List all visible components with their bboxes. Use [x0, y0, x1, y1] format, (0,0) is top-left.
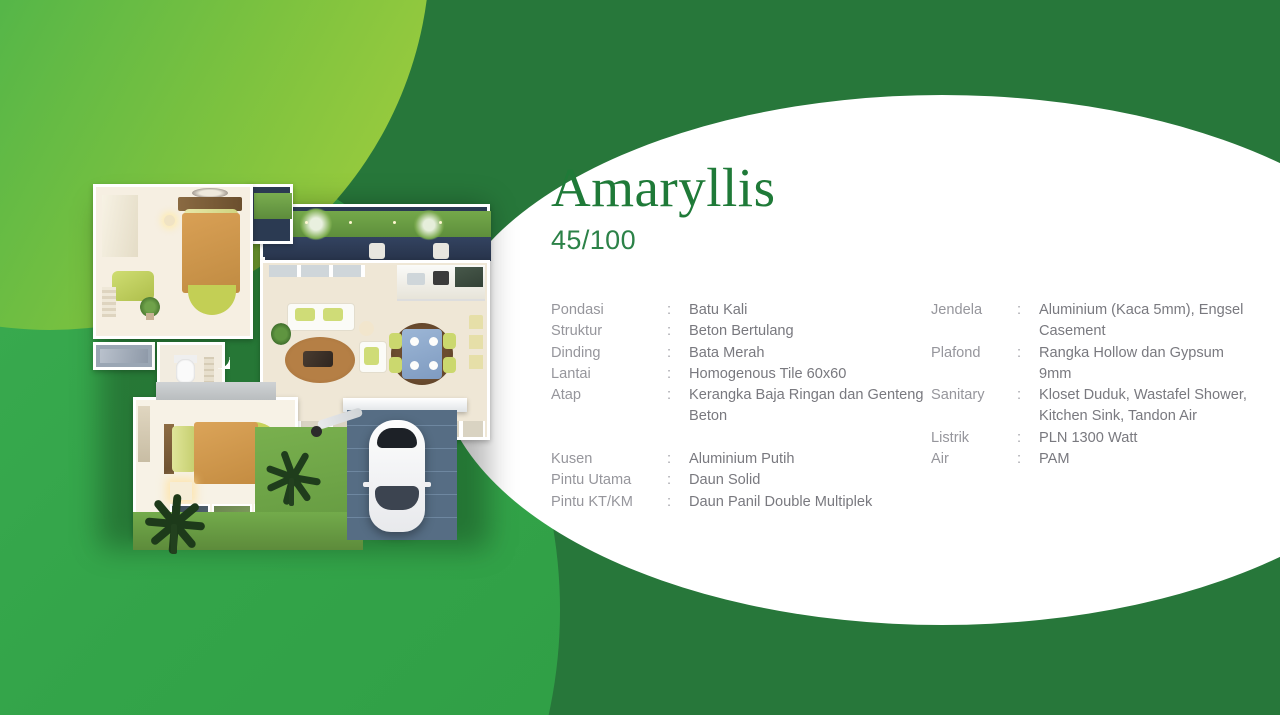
- kitchen-sink-icon: [407, 273, 425, 285]
- area-carport: [347, 410, 457, 540]
- dining-table: [402, 329, 442, 379]
- toilet-icon: [176, 359, 195, 383]
- floor-mat: [102, 287, 116, 317]
- closet-interior: [100, 349, 148, 363]
- spec-value: Homogenous Tile 60x60: [689, 364, 931, 385]
- spec-label: Pintu Utama: [551, 470, 667, 491]
- spec-label: Dinding: [551, 343, 667, 364]
- plant-icon: [271, 323, 291, 345]
- garden-light-dot: [439, 221, 442, 224]
- spec-row: Lantai:Homogenous Tile 60x60: [551, 364, 931, 385]
- armchair-cushion: [364, 347, 379, 365]
- side-garden-grass: [254, 193, 292, 219]
- garden-chair: [433, 243, 449, 259]
- house-size-label: 45/100: [551, 225, 1251, 256]
- spec-value: Daun Solid: [689, 470, 931, 491]
- room-side-garden: [247, 184, 293, 244]
- spec-label: Listrik: [931, 428, 1017, 449]
- dining-plate-icon: [410, 337, 419, 346]
- spec-value: Aluminium (Kaca 5mm), Engsel Casement: [1039, 300, 1251, 343]
- spec-label: Struktur: [551, 321, 667, 342]
- specifications-table: Pondasi:Batu KaliStruktur:Beton Bertulan…: [551, 300, 1251, 513]
- spec-column-left: Pondasi:Batu KaliStruktur:Beton Bertulan…: [551, 300, 931, 513]
- spec-row: Pondasi:Batu Kali: [551, 300, 931, 321]
- bed-pillows: [172, 426, 196, 472]
- spec-value: Rangka Hollow dan Gypsum 9mm: [1039, 343, 1251, 386]
- spec-value: Beton Bertulang: [689, 321, 931, 342]
- spec-colon: :: [667, 470, 689, 491]
- bathroom-door-swing: [218, 357, 230, 369]
- coffee-table: [303, 351, 333, 367]
- spec-label: Jendela: [931, 300, 1017, 321]
- side-table: [359, 321, 374, 336]
- dining-plate-icon: [410, 361, 419, 370]
- spec-value: Aluminium Putih: [689, 449, 931, 470]
- spec-colon: :: [667, 449, 689, 470]
- spec-label: Sanitary: [931, 385, 1017, 406]
- spec-label: Air: [931, 449, 1017, 470]
- spec-row: Pintu KT/KM:Daun Panil Double Multiplek: [551, 492, 931, 513]
- car-icon: [369, 420, 425, 532]
- spec-colon: :: [667, 385, 689, 406]
- spec-label: Pintu KT/KM: [551, 492, 667, 513]
- car-mirror: [363, 482, 373, 487]
- dining-plate-icon: [429, 337, 438, 346]
- garden-chair: [369, 243, 385, 259]
- dining-chair: [443, 357, 456, 373]
- garden-light-dot: [349, 221, 352, 224]
- spec-colon: :: [667, 321, 689, 342]
- palm-tree-icon: [143, 500, 213, 554]
- garden-bush-icon: [413, 209, 445, 241]
- spec-row: Atap:Kerangka Baja Ringan dan Genteng Be…: [551, 385, 931, 428]
- spec-row: Kusen:Aluminium Putih: [551, 449, 931, 470]
- spec-colon: :: [667, 300, 689, 321]
- spec-value: Bata Merah: [689, 343, 931, 364]
- wardrobe: [138, 406, 150, 462]
- room-bedroom-1: [93, 184, 253, 339]
- palm-tree-icon: [265, 450, 325, 506]
- floorplan-image: [85, 182, 500, 557]
- bed: [182, 213, 240, 293]
- spec-colon: :: [1017, 343, 1039, 364]
- garden-light-dot: [393, 221, 396, 224]
- spec-row: Jendela:Aluminium (Kaca 5mm), Engsel Cas…: [931, 300, 1251, 343]
- car-windshield: [375, 486, 419, 510]
- spec-colon: :: [667, 492, 689, 513]
- spec-value: Batu Kali: [689, 300, 931, 321]
- table-lamp-icon: [164, 215, 175, 226]
- page-title: Amaryllis: [551, 160, 1251, 215]
- spec-label: Kusen: [551, 449, 667, 470]
- dining-chair: [389, 333, 402, 349]
- spec-row: Pintu Utama:Daun Solid: [551, 470, 931, 491]
- house-heading-block: Amaryllis 45/100: [551, 160, 1251, 256]
- spec-colon: :: [1017, 428, 1039, 449]
- wall-art-frames: [469, 315, 483, 373]
- spec-row: Listrik:PLN 1300 Watt: [931, 428, 1251, 449]
- spec-row: Sanitary:Kloset Duduk, Wastafel Shower, …: [931, 385, 1251, 428]
- sofa-cushion: [323, 308, 343, 321]
- spec-value: PLN 1300 Watt: [1039, 428, 1251, 449]
- garden-bush-icon: [299, 207, 333, 241]
- room-back-garden: [260, 204, 490, 260]
- spec-label: Lantai: [551, 364, 667, 385]
- car-mirror: [421, 482, 431, 487]
- spec-column-right: Jendela:Aluminium (Kaca 5mm), Engsel Cas…: [931, 300, 1251, 513]
- kitchen-cabinet: [455, 267, 483, 287]
- spec-colon: :: [1017, 300, 1039, 321]
- bedroom2-top-wall: [156, 382, 276, 400]
- plant-pot: [146, 313, 154, 320]
- spec-value: PAM: [1039, 449, 1251, 470]
- spec-label: Plafond: [931, 343, 1017, 364]
- spec-colon: :: [1017, 449, 1039, 470]
- spec-colon: :: [667, 364, 689, 385]
- spec-row: Dinding:Bata Merah: [551, 343, 931, 364]
- stove-icon: [433, 271, 449, 285]
- room-closet: [93, 342, 155, 370]
- spec-row: Struktur:Beton Bertulang: [551, 321, 931, 342]
- sofa-cushion: [295, 308, 315, 321]
- bedside-rug: [188, 285, 236, 315]
- car-rear-window: [377, 428, 417, 448]
- wardrobe: [102, 195, 138, 257]
- spec-colon: :: [667, 343, 689, 364]
- dining-plate-icon: [429, 361, 438, 370]
- dining-chair: [389, 357, 402, 373]
- garden-light-dot: [305, 221, 308, 224]
- spec-row: Plafond:Rangka Hollow dan Gypsum 9mm: [931, 343, 1251, 386]
- dining-chair: [443, 333, 456, 349]
- spec-label: Pondasi: [551, 300, 667, 321]
- gate-post-icon: [311, 426, 322, 437]
- spec-value: Daun Panil Double Multiplek: [689, 492, 931, 513]
- spec-label: Atap: [551, 385, 667, 406]
- spec-value: Kerangka Baja Ringan dan Genteng Beton: [689, 385, 931, 428]
- bed: [194, 422, 258, 484]
- spec-value: Kloset Duduk, Wastafel Shower, Kitchen S…: [1039, 385, 1251, 428]
- spec-colon: :: [1017, 385, 1039, 406]
- living-window-band: [269, 265, 365, 277]
- spec-row: Air:PAM: [931, 449, 1251, 470]
- brochure-slide: Amaryllis 45/100 Pondasi:Batu KaliStrukt…: [0, 0, 1280, 715]
